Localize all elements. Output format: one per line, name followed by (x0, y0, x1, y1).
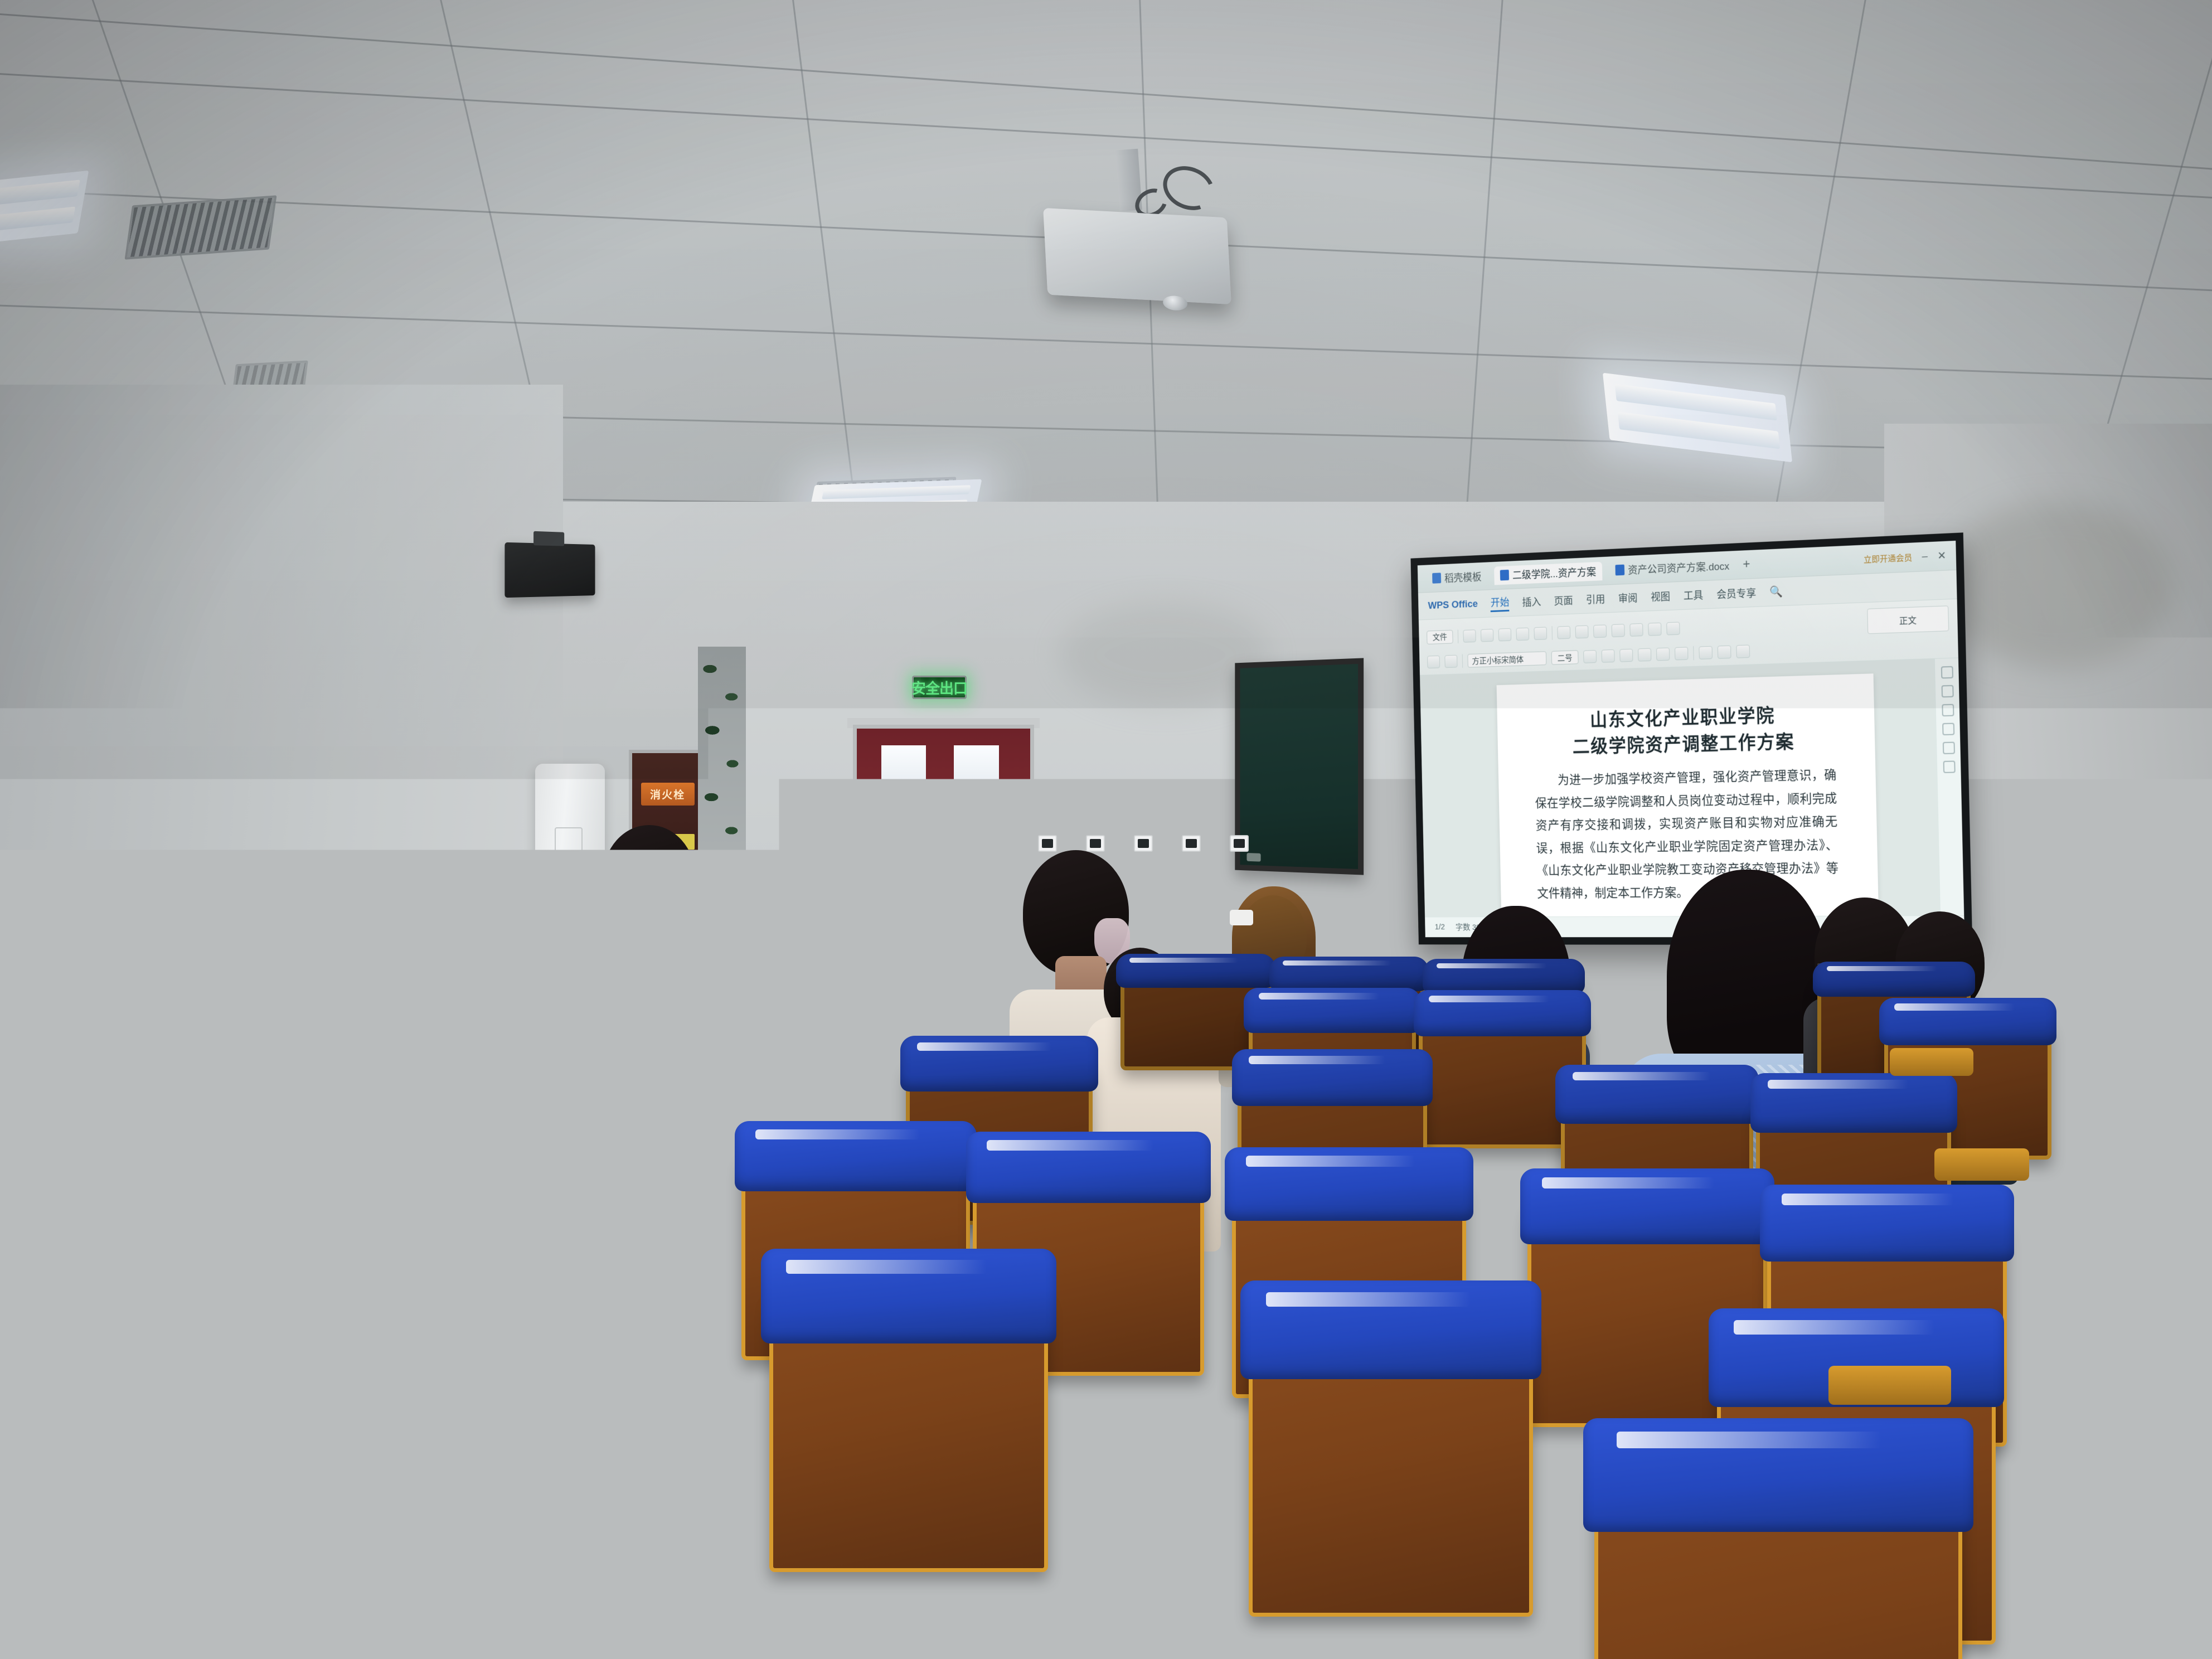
floor-air-conditioner (535, 764, 605, 931)
picture-icon[interactable] (1942, 723, 1954, 735)
projected-image: 稻壳模板 二级学院...资产方案 资产公司资产方案.docx + 立即开通会员 … (1418, 541, 1964, 937)
member-badge[interactable]: 立即开通会员 (1864, 551, 1913, 565)
wps-tab-label: 二级学院...资产方案 (1512, 564, 1597, 582)
strikethrough-icon[interactable] (1638, 648, 1651, 662)
head (842, 797, 1009, 981)
wall-outlet[interactable] (1038, 835, 1057, 852)
italic-icon[interactable] (1602, 649, 1615, 663)
fire-cabinet-label: 消火栓 (641, 783, 695, 806)
seat-armrest (1934, 1148, 2029, 1181)
pen-icon[interactable] (1941, 666, 1953, 679)
exit-sign: 安全出口 (912, 676, 967, 699)
menu-item-6[interactable]: 工具 (1684, 588, 1704, 603)
wps-tab-0[interactable]: 稻壳模板 (1427, 567, 1488, 588)
menu-item-7[interactable]: 会员专享 (1716, 585, 1757, 601)
wall-outlet[interactable] (1134, 835, 1153, 852)
artificial-vine-column (698, 647, 746, 925)
clock-icon[interactable] (1943, 761, 1955, 773)
wps-tab-1[interactable]: 二级学院...资产方案 (1494, 561, 1602, 585)
copy-icon[interactable] (1444, 655, 1457, 668)
format-painter-icon[interactable] (1534, 627, 1547, 640)
menu-item-2[interactable]: 页面 (1554, 593, 1573, 608)
wall-outlet[interactable] (1086, 835, 1105, 852)
ac-vent-slot (555, 827, 583, 904)
menu-item-4[interactable]: 审阅 (1618, 590, 1638, 605)
wall-outlet[interactable] (1182, 835, 1201, 852)
font-name-select[interactable]: 方正小标宋简体 (1467, 652, 1546, 668)
underline-icon[interactable] (1619, 649, 1633, 662)
new-tab-button[interactable]: + (1743, 557, 1750, 573)
save-icon[interactable] (1463, 629, 1476, 642)
seat (0, 1410, 262, 1659)
head (811, 819, 851, 864)
style-box[interactable]: 正文 (1867, 605, 1949, 634)
file-menu-button[interactable]: 文件 (1427, 629, 1453, 644)
aisle-carpet (2029, 1093, 2212, 1238)
hair-clip (1230, 910, 1253, 925)
glasses-icon (675, 879, 702, 881)
wps-brand: WPS Office (1428, 598, 1478, 612)
align-center-icon[interactable] (1612, 624, 1625, 637)
paste-icon[interactable] (1427, 656, 1440, 668)
seat (1594, 1472, 1962, 1659)
head (603, 825, 695, 928)
door-glass-panel (881, 745, 926, 800)
seat-armrest (1890, 1048, 1973, 1076)
highlight-icon[interactable] (1675, 647, 1688, 661)
minimize-button[interactable]: – (1922, 550, 1928, 562)
lecture-hall-photo: 稻壳模板 二级学院...资产方案 资产公司资产方案.docx + 立即开通会员 … (0, 0, 2212, 1659)
wps-tab-2[interactable]: 资产公司资产方案.docx (1609, 556, 1735, 580)
print-preview-icon[interactable] (1516, 627, 1530, 641)
wps-tab-label: 稻壳模板 (1444, 569, 1482, 585)
document-page: 山东文化产业职业学院 二级学院资产调整工作方案 为进一步加强学校资产管理，强化资… (1497, 674, 1879, 916)
exit-sign-text: 安全出口 (911, 677, 967, 698)
wps-office-window: 稻壳模板 二级学院...资产方案 资产公司资产方案.docx + 立即开通会员 … (1418, 541, 1964, 937)
ear (991, 895, 1017, 930)
wall-outlet-row (1038, 835, 1249, 852)
menu-item-0[interactable]: 开始 (1491, 594, 1510, 612)
window-controls: 立即开通会员 – ✕ (1864, 549, 1947, 565)
table-icon[interactable] (1942, 742, 1954, 754)
bullet-list-icon[interactable] (1557, 625, 1570, 639)
shape-icon[interactable] (1942, 704, 1954, 717)
search-icon[interactable]: 🔍 (1769, 585, 1783, 599)
align-justify-icon[interactable] (1699, 646, 1713, 659)
table-icon[interactable] (1736, 645, 1750, 658)
undo-icon[interactable] (1481, 629, 1493, 642)
shading-icon[interactable] (1648, 622, 1661, 636)
template-icon (1432, 573, 1441, 584)
menu-item-5[interactable]: 视图 (1651, 589, 1670, 604)
font-size-select[interactable]: 二号 (1551, 651, 1579, 665)
door-glass-panel (954, 745, 999, 800)
wps-tab-label: 资产公司资产方案.docx (1628, 558, 1729, 577)
page-indicator: 1/2 (1435, 923, 1445, 932)
indent-icon[interactable] (1718, 646, 1731, 659)
close-button[interactable]: ✕ (1937, 549, 1946, 562)
ceiling-projector (1043, 208, 1231, 304)
redo-icon[interactable] (1498, 628, 1511, 641)
line-spacing-icon[interactable] (1629, 623, 1643, 637)
speaker-mount (533, 531, 564, 546)
wall-outlet[interactable] (1230, 835, 1249, 852)
text-color-icon[interactable] (1656, 648, 1670, 661)
seat (870, 1449, 1238, 1659)
document-icon (1500, 570, 1509, 581)
text-icon[interactable] (1941, 685, 1953, 698)
menu-item-1[interactable]: 插入 (1522, 594, 1541, 609)
seat-armrest (1828, 1366, 1951, 1405)
projection-screen: 稻壳模板 二级学院...资产方案 资产公司资产方案.docx + 立即开通会员 … (1410, 532, 1972, 945)
seat (1249, 1327, 1533, 1617)
document-canvas[interactable]: 山东文化产业职业学院 二级学院资产调整工作方案 为进一步加强学校资产管理，强化资… (1420, 658, 1964, 917)
document-paragraph: 为进一步加强学校资产管理，强化资产管理意识，确保在学校二级学院调整和人员岗位变动… (1535, 764, 1839, 905)
hvac-vent (124, 195, 276, 259)
right-tool-rail (1934, 658, 1964, 915)
wall-stain (1940, 502, 2174, 669)
bold-icon[interactable] (1583, 651, 1597, 664)
chalk-tray (1247, 853, 1261, 861)
seat (273, 1427, 630, 1659)
wall-speaker (505, 542, 595, 598)
menu-item-3[interactable]: 引用 (1586, 591, 1605, 607)
borders-icon[interactable] (1666, 622, 1680, 635)
green-chalkboard (1235, 658, 1364, 875)
document-icon (1615, 565, 1624, 576)
align-left-icon[interactable] (1593, 624, 1607, 638)
number-list-icon[interactable] (1575, 625, 1589, 638)
